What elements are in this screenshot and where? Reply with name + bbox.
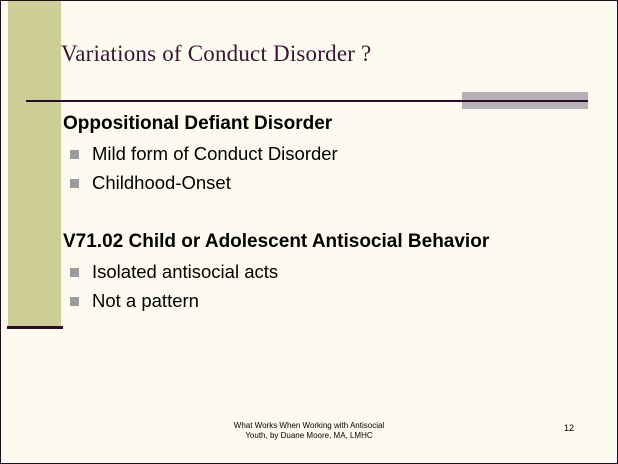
square-bullet-icon	[70, 268, 79, 277]
presentation-slide: Variations of Conduct Disorder ? Opposit…	[0, 0, 618, 464]
list-item-label: Childhood-Onset	[92, 171, 231, 195]
bullet-list: Mild form of Conduct Disorder Childhood-…	[63, 142, 593, 195]
section-child-adolescent-antisocial-behavior: V71.02 Child or Adolescent Antisocial Be…	[63, 229, 593, 313]
list-item-label: Not a pattern	[92, 289, 199, 313]
list-item: Not a pattern	[63, 289, 593, 313]
square-bullet-icon	[70, 179, 79, 188]
section-heading: V71.02 Child or Adolescent Antisocial Be…	[63, 229, 593, 255]
page-number: 12	[564, 423, 574, 433]
footer-credit: What Works When Working with Antisocial …	[1, 421, 617, 441]
list-item-label: Isolated antisocial acts	[92, 260, 278, 284]
section-heading: Oppositional Defiant Disorder	[63, 111, 593, 137]
footer-credit-line-2: Youth, by Duane Moore, MA, LMHC	[1, 431, 617, 441]
accent-bar-underline	[7, 326, 63, 329]
section-oppositional-defiant-disorder: Oppositional Defiant Disorder Mild form …	[63, 111, 593, 195]
list-item-label: Mild form of Conduct Disorder	[92, 142, 338, 166]
list-item: Isolated antisocial acts	[63, 260, 593, 284]
bullet-list: Isolated antisocial acts Not a pattern	[63, 260, 593, 313]
page-title: Variations of Conduct Disorder ?	[61, 41, 371, 67]
slide-body: Oppositional Defiant Disorder Mild form …	[63, 111, 593, 331]
footer-credit-line-1: What Works When Working with Antisocial	[1, 421, 617, 431]
left-accent-bar	[8, 0, 61, 327]
list-item: Childhood-Onset	[63, 171, 593, 195]
square-bullet-icon	[70, 297, 79, 306]
square-bullet-icon	[70, 150, 79, 159]
header-divider-rule	[26, 100, 588, 102]
list-item: Mild form of Conduct Disorder	[63, 142, 593, 166]
